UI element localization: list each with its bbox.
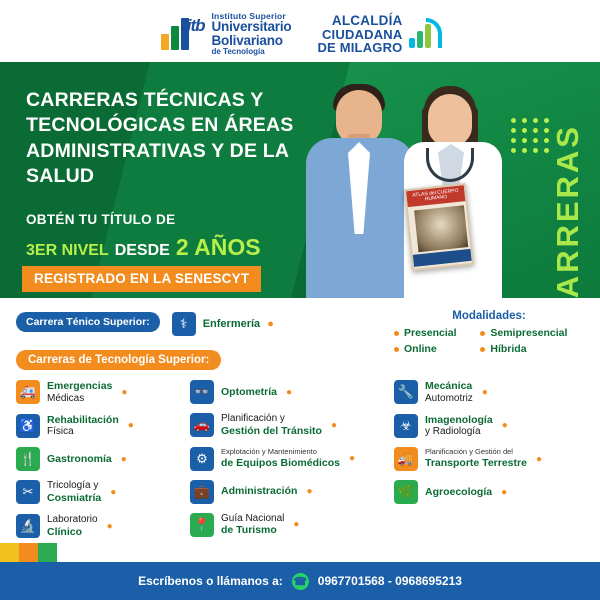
glasses-icon: 👓 xyxy=(190,380,214,404)
car-icon: 🚗 xyxy=(190,413,214,437)
career-text: Explotación y Mantenimientode Equipos Bi… xyxy=(221,448,340,470)
hero-vertical-label: CARRERAS xyxy=(550,124,586,298)
career-item: 🚗 Planificación yGestión del Tránsito ● xyxy=(190,413,388,438)
xray-icon: ☣ xyxy=(394,414,418,438)
bullet-icon: ● xyxy=(536,454,542,465)
wheelchair-icon: ♿ xyxy=(16,414,40,438)
tecnologia-section-title: Carreras de Tecnología Superior: xyxy=(16,350,221,370)
career-text: Planificación yGestión del Tránsito xyxy=(221,413,322,438)
career-item: 🔬 LaboratorioClínico ● xyxy=(16,514,184,539)
bullet-icon: ● xyxy=(349,453,355,464)
career-item: 🚚 Planificación y Gestión delTransporte … xyxy=(394,447,584,471)
career-line-1: Gastronomía xyxy=(47,453,112,465)
itb-logo-text: Instituto Superior Universitario Bolivar… xyxy=(212,12,292,56)
hero-level-line: 3ER NIVEL DESDE 2 AÑOS xyxy=(26,234,261,261)
career-item: 🍴 Gastronomía ● xyxy=(16,447,184,471)
bullet-icon: ● xyxy=(121,454,127,465)
alcaldia-line-3: DE MILAGRO xyxy=(317,41,402,54)
students-photo: ATLAS del CUERPO HUMANO xyxy=(300,80,510,298)
career-line-2: Gestión del Tránsito xyxy=(221,425,322,437)
career-item: 🌿 Agroecología ● xyxy=(394,480,584,504)
career-item: ✂ Tricología yCosmiatría ● xyxy=(16,480,184,505)
footer-text: Escríbenos o llámanos a: xyxy=(138,574,283,588)
itb-logo-mark: itb xyxy=(159,14,205,54)
alcaldia-logo: ALCALDÍA CIUDADANA DE MILAGRO xyxy=(317,14,441,55)
hero-obtain-text: OBTÉN TU TÍTULO DE xyxy=(26,212,175,227)
career-item: ☣ Imagenologíay Radiología ● xyxy=(394,414,584,439)
career-text: MecánicaAutomotriz xyxy=(425,380,473,405)
tecnico-career-label: Enfermería xyxy=(203,318,260,330)
modalidad-item: Semipresencial xyxy=(480,327,584,339)
career-text: Optometría xyxy=(221,386,277,399)
bullet-icon: ● xyxy=(107,521,113,532)
career-text: Tricología yCosmiatría xyxy=(47,480,101,505)
bullet-icon: ● xyxy=(267,318,274,330)
career-line-1: Optometría xyxy=(221,386,277,398)
career-item: 👓 Optometría ● xyxy=(190,380,388,404)
itb-mark-text: itb xyxy=(187,16,205,36)
poster: itb Instituto Superior Universitario Bol… xyxy=(0,0,600,600)
bullet-icon: ● xyxy=(502,420,508,431)
truck-icon: 🚚 xyxy=(394,447,418,471)
career-text: Planificación y Gestión delTransporte Te… xyxy=(425,448,527,470)
hero-title: CARRERAS TÉCNICAS Y TECNOLÓGICAS EN ÁREA… xyxy=(26,88,326,189)
career-line-1: Agroecología xyxy=(425,486,492,498)
modalidad-item: Presencial xyxy=(394,327,480,339)
footer-phones[interactable]: 0967701568 - 0968695213 xyxy=(318,574,462,588)
hero-banner: ATLAS del CUERPO HUMANO CARRERAS TÉCNICA… xyxy=(0,62,600,298)
bullet-icon: ● xyxy=(501,487,507,498)
career-line-2: Automotriz xyxy=(425,393,473,404)
itb-line-4: de Tecnología xyxy=(212,48,292,56)
modalidad-label: Semipresencial xyxy=(490,327,567,339)
career-line-2: y Radiología xyxy=(425,426,481,437)
career-text: EmergenciasMédicas xyxy=(47,380,112,405)
alcaldia-line-1: ALCALDÍA xyxy=(317,14,402,28)
itb-line-2: Universitario xyxy=(212,20,292,34)
bullet-icon: ● xyxy=(482,387,488,398)
career-text: Gastronomía xyxy=(47,453,112,466)
ambulance-icon: 🚑 xyxy=(16,380,40,404)
plant-icon: 🌿 xyxy=(394,480,418,504)
career-line-2: de Equipos Biomédicos xyxy=(221,457,340,469)
career-line-2: Médicas xyxy=(47,393,84,404)
modalidades-title: Modalidades: xyxy=(394,310,584,322)
senescyt-badge: REGISTRADO EN LA SENESCYT xyxy=(22,266,261,292)
alcaldia-logo-text: ALCALDÍA CIUDADANA DE MILAGRO xyxy=(317,14,402,55)
equipment-icon: ⚙ xyxy=(190,447,214,471)
scissors-icon: ✂ xyxy=(16,480,40,504)
modalidad-label: Híbrida xyxy=(490,343,526,355)
career-line-1: Tricología y xyxy=(47,480,98,491)
bullet-icon: ● xyxy=(128,420,134,431)
career-text: Agroecología xyxy=(425,486,492,499)
bullet-icon xyxy=(394,331,399,336)
bullet-icon: ● xyxy=(293,519,299,530)
footer-contact-bar: Escríbenos o llámanos a: ☎ 0967701568 - … xyxy=(0,562,600,600)
career-line-1: Guía Nacional xyxy=(221,513,284,524)
career-text: RehabilitaciónFísica xyxy=(47,414,119,439)
map-pin-icon: 📍 xyxy=(190,513,214,537)
itb-logo: itb Instituto Superior Universitario Bol… xyxy=(159,12,292,56)
bullet-icon xyxy=(480,347,485,352)
career-line-1: Administración xyxy=(221,485,297,497)
alcaldia-logo-mark xyxy=(408,18,442,50)
career-line-1: Laboratorio xyxy=(47,514,98,525)
career-line-2: Clínico xyxy=(47,526,82,538)
career-item: ⚙ Explotación y Mantenimientode Equipos … xyxy=(190,447,388,471)
bullet-icon: ● xyxy=(121,387,127,398)
career-item: 💼 Administración ● xyxy=(190,480,388,504)
mechanic-icon: 🔧 xyxy=(394,380,418,404)
bullet-icon: ● xyxy=(331,420,337,431)
career-text: Guía Nacionalde Turismo xyxy=(221,513,284,538)
bullet-icon: ● xyxy=(306,486,312,497)
book-title: ATLAS del CUERPO HUMANO xyxy=(406,185,465,207)
modalidad-item: Híbrida xyxy=(480,343,584,355)
header: itb Instituto Superior Universitario Bol… xyxy=(0,0,600,62)
careers-column-1: 🚑 EmergenciasMédicas ● ♿ RehabilitaciónF… xyxy=(16,380,184,538)
career-text: Administración xyxy=(221,485,297,498)
career-line-1: Imagenología xyxy=(425,414,493,426)
careers-column-2: 👓 Optometría ● 🚗 Planificación yGestión … xyxy=(190,380,388,538)
hero-level-3er: 3ER NIVEL xyxy=(26,242,109,260)
microscope-icon: 🔬 xyxy=(16,514,40,538)
modalidad-label: Presencial xyxy=(404,327,457,339)
bullet-icon: ● xyxy=(286,387,292,398)
modalidades-block: Modalidades: Presencial Semipresencial O… xyxy=(394,310,584,355)
nurse-icon: ⚕ xyxy=(172,312,196,336)
career-line-1: Rehabilitación xyxy=(47,414,119,426)
career-item: 🔧 MecánicaAutomotriz ● xyxy=(394,380,584,405)
corner-color-blocks xyxy=(0,543,57,562)
itb-line-3: Bolivariano xyxy=(212,34,292,48)
dots-decoration xyxy=(511,118,550,153)
career-item: 🚑 EmergenciasMédicas ● xyxy=(16,380,184,405)
alcaldia-line-2: CIUDADANA xyxy=(317,28,402,41)
briefcase-icon: 💼 xyxy=(190,480,214,504)
career-line-2: Física xyxy=(47,426,74,437)
career-line-1: Planificación y Gestión del xyxy=(425,448,527,457)
hero-level-desde: DESDE xyxy=(115,242,170,260)
career-text: LaboratorioClínico xyxy=(47,514,98,539)
anatomy-book: ATLAS del CUERPO HUMANO xyxy=(404,183,474,271)
career-line-1: Explotación y Mantenimiento xyxy=(221,448,340,457)
chef-icon: 🍴 xyxy=(16,447,40,471)
careers-columns: 🚑 EmergenciasMédicas ● ♿ RehabilitaciónF… xyxy=(16,380,584,538)
bullet-icon xyxy=(480,331,485,336)
whatsapp-icon[interactable]: ☎ xyxy=(292,573,309,590)
career-item: ♿ RehabilitaciónFísica ● xyxy=(16,414,184,439)
bullet-icon xyxy=(394,347,399,352)
hero-level-years: 2 AÑOS xyxy=(176,234,261,261)
career-line-2: Transporte Terrestre xyxy=(425,457,527,469)
careers-content: Carrera Ténico Superior: ⚕ Enfermería ● … xyxy=(0,298,600,562)
tecnico-label: Carrera Ténico Superior: xyxy=(16,312,160,332)
career-line-2: Cosmiatría xyxy=(47,492,101,504)
career-line-1: Emergencias xyxy=(47,380,112,392)
modalidades-list: Presencial Semipresencial Online Híbrida xyxy=(394,327,584,355)
bullet-icon: ● xyxy=(110,487,116,498)
modalidad-item: Online xyxy=(394,343,480,355)
career-text: Imagenologíay Radiología xyxy=(425,414,493,439)
careers-column-3: 🔧 MecánicaAutomotriz ● ☣ Imagenologíay R… xyxy=(394,380,584,538)
career-line-1: Mecánica xyxy=(425,380,472,392)
career-item: 📍 Guía Nacionalde Turismo ● xyxy=(190,513,388,538)
tecnico-career: ⚕ Enfermería ● xyxy=(172,312,274,336)
modalidad-label: Online xyxy=(404,343,437,355)
career-line-2: de Turismo xyxy=(221,524,277,536)
career-line-1: Planificación y xyxy=(221,413,285,424)
